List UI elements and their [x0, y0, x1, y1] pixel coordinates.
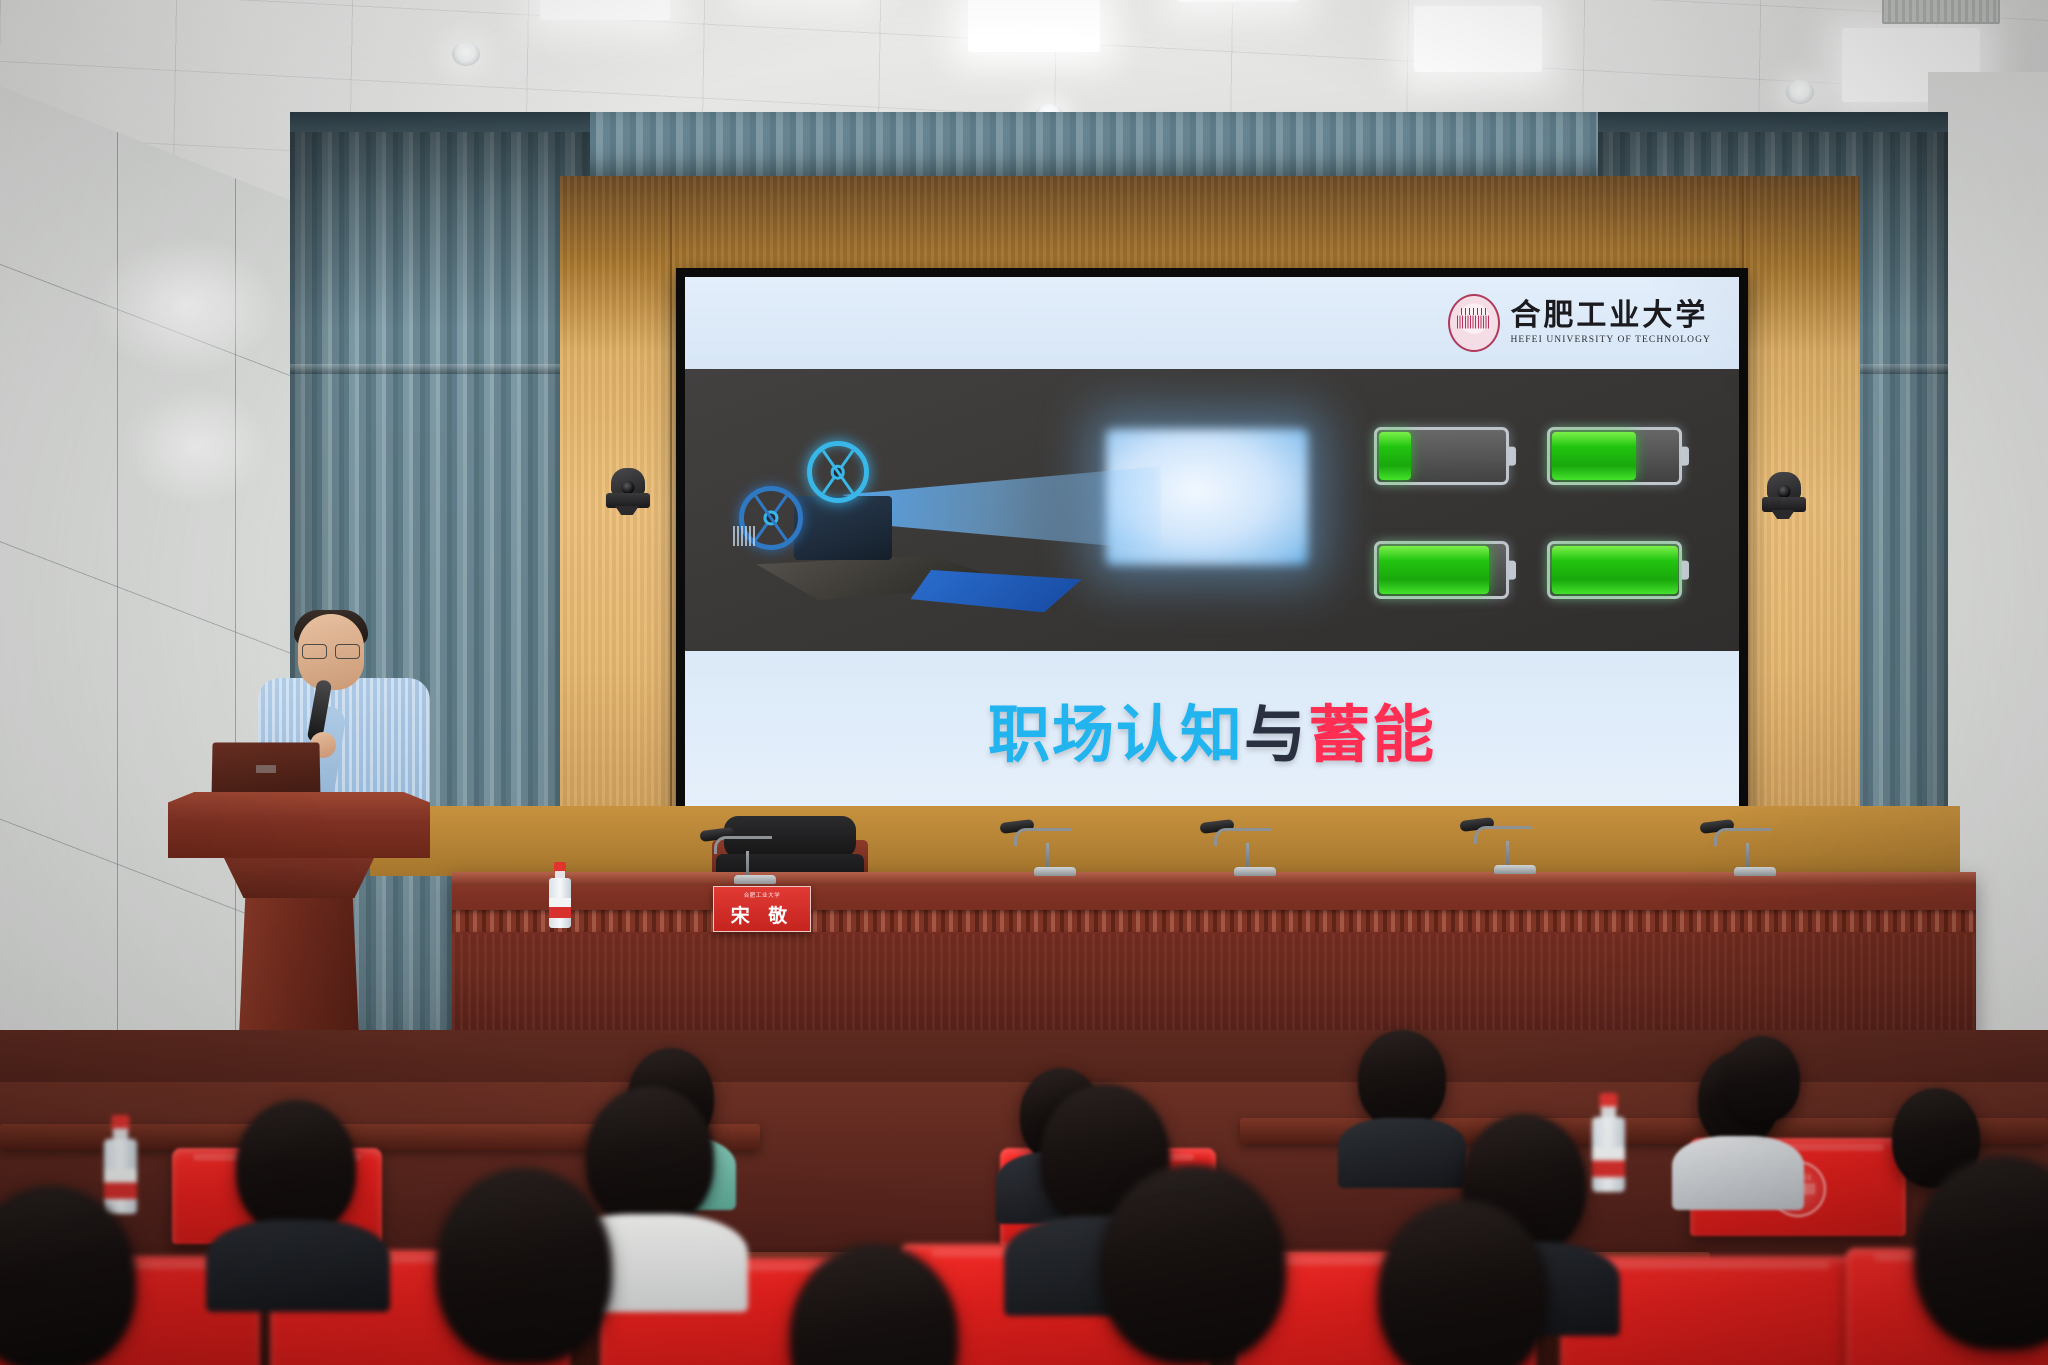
wall-light-reflection — [90, 236, 280, 376]
water-bottle-stage — [549, 862, 571, 928]
ptz-camera-right — [1762, 472, 1806, 520]
bottle-label — [104, 1169, 137, 1199]
person-head — [436, 1168, 612, 1364]
projector-film-strip — [733, 526, 755, 546]
mic-base — [1734, 867, 1776, 876]
projector-artwork — [727, 392, 1338, 640]
mic-stem — [746, 851, 749, 877]
podium-neck — [222, 854, 376, 898]
mic-stem — [1046, 843, 1049, 869]
person-head — [236, 1100, 356, 1234]
person-shoulders — [206, 1220, 390, 1312]
person-shoulders — [1672, 1136, 1804, 1210]
curtain-hem — [290, 364, 590, 374]
wall-light-reflection — [120, 386, 270, 506]
head-table — [452, 872, 1976, 1042]
wood-panel-seam — [670, 176, 672, 806]
podium-desktop — [168, 792, 430, 858]
table-greek-key-trim — [452, 910, 1976, 932]
camera-base — [1762, 497, 1806, 512]
bottle-label — [549, 898, 571, 918]
battery-fill — [1379, 432, 1411, 480]
battery-icon-4 — [1547, 541, 1682, 599]
table-front-panel — [452, 934, 1976, 1042]
slide-header-band: 合肥工业大学 HEFEI UNIVERSITY OF TECHNOLOGY — [685, 277, 1739, 369]
ceiling-panel-light — [540, 0, 670, 20]
nameplate-org: 合肥工业大学 — [744, 891, 781, 899]
lecture-hall-photo: 合肥工业大学 HEFEI UNIVERSITY OF TECHNOLOGY — [0, 0, 2048, 1365]
camera-mount — [615, 506, 639, 515]
mic-base — [734, 875, 776, 884]
university-name-en: HEFEI UNIVERSITY OF TECHNOLOGY — [1510, 335, 1711, 345]
gooseneck-microphone — [1000, 818, 1120, 876]
mic-base — [1494, 865, 1536, 874]
projection-screen: 合肥工业大学 HEFEI UNIVERSITY OF TECHNOLOGY — [676, 268, 1748, 828]
mic-base — [1034, 867, 1076, 876]
camera-base — [606, 493, 650, 508]
battery-icon-3 — [1374, 541, 1509, 599]
person-head — [1100, 1164, 1286, 1364]
mic-base — [1234, 867, 1276, 876]
water-bottle-audience — [1592, 1093, 1625, 1192]
ceiling-panel-light — [968, 0, 1100, 52]
person-head — [1724, 1036, 1800, 1122]
person-head — [1358, 1030, 1446, 1128]
bottle-label — [1592, 1147, 1625, 1177]
mic-gooseneck — [1014, 828, 1072, 846]
university-seal-icon — [1448, 294, 1500, 352]
battery-row-group — [1365, 406, 1692, 620]
mic-stem — [1506, 841, 1509, 867]
slide-title: 职场认知与蓄能 — [988, 704, 1436, 766]
gooseneck-microphone — [700, 826, 820, 884]
slide-surface: 合肥工业大学 HEFEI UNIVERSITY OF TECHNOLOGY — [685, 277, 1739, 819]
projector-body — [794, 496, 892, 560]
person-shoulders — [1338, 1118, 1466, 1188]
ceiling-downlight — [1786, 80, 1814, 104]
ceiling-panel-light — [1414, 6, 1542, 72]
curtain-header — [290, 112, 590, 132]
nameplate: 合肥工业大学 宋 敬 — [713, 886, 811, 932]
slide-title-part-2: 与 — [1244, 698, 1308, 771]
battery-fill — [1552, 546, 1677, 594]
film-reel-upper-icon — [807, 441, 869, 503]
slide-title-part-1: 职场认知 — [988, 698, 1244, 771]
mic-gooseneck — [1474, 826, 1532, 844]
ceiling-vent — [1882, 0, 2000, 24]
battery-fill — [1379, 546, 1489, 594]
eyeglasses-icon — [302, 644, 360, 657]
mic-gooseneck — [1714, 828, 1772, 846]
mic-gooseneck — [714, 836, 772, 854]
nameplate-name: 宋 敬 — [731, 901, 794, 928]
slide-title-band: 职场认知与蓄能 — [685, 651, 1739, 819]
battery-icon-1 — [1374, 427, 1509, 485]
gooseneck-microphone — [1700, 818, 1820, 876]
water-bottle-audience — [104, 1115, 137, 1214]
laptop-logo — [256, 765, 276, 773]
person-head — [586, 1086, 714, 1228]
gooseneck-microphone — [1200, 818, 1320, 876]
projector-table-highlight — [911, 565, 1082, 612]
mic-stem — [1246, 843, 1249, 869]
reel-hub — [830, 465, 845, 480]
mic-gooseneck — [1214, 828, 1272, 846]
slide-title-part-3: 蓄能 — [1308, 698, 1436, 771]
battery-fill — [1552, 432, 1636, 480]
ceiling-downlight — [452, 42, 480, 66]
battery-icon-2 — [1547, 427, 1682, 485]
mic-stem — [1746, 843, 1749, 869]
ceiling-panel-light — [1178, 0, 1298, 2]
university-name-cn: 合肥工业大学 — [1510, 301, 1711, 331]
slide-image-band — [685, 369, 1739, 651]
camera-mount — [1771, 510, 1795, 519]
university-logo: 合肥工业大学 HEFEI UNIVERSITY OF TECHNOLOGY — [1448, 294, 1711, 352]
reel-hub — [764, 510, 779, 525]
ptz-camera-left — [606, 468, 650, 516]
gooseneck-microphone — [1460, 816, 1580, 874]
curtain-header — [1598, 112, 1948, 132]
